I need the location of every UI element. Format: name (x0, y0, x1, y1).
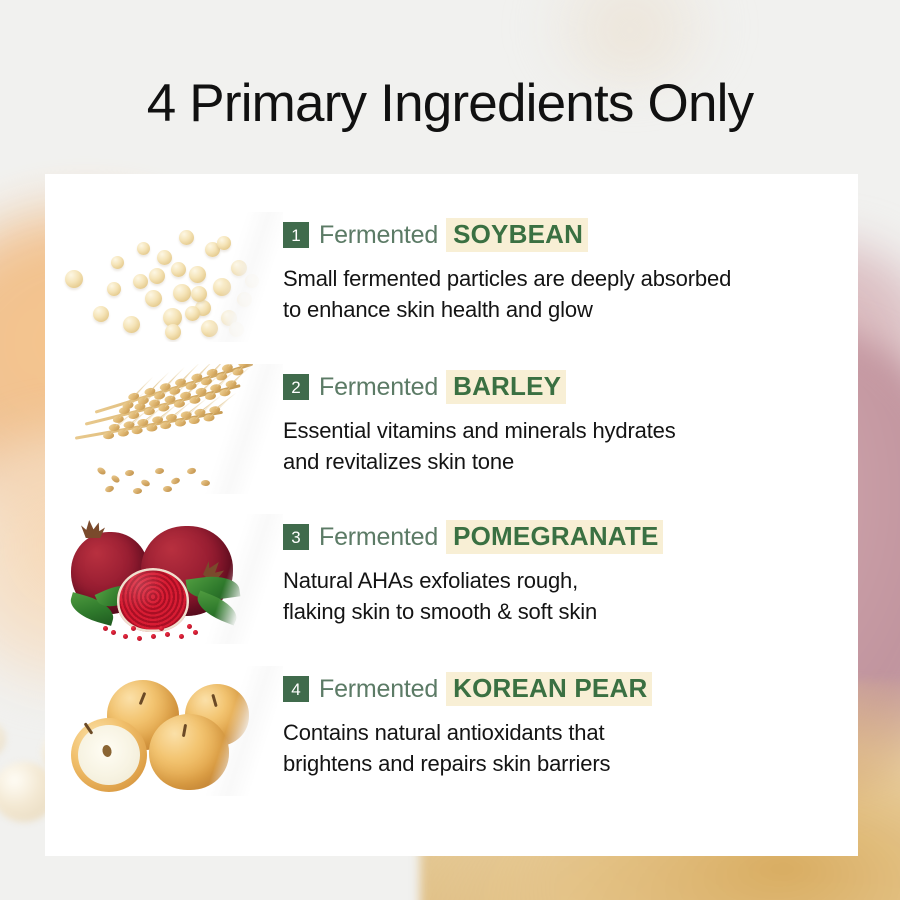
description-line-1: Natural AHAs exfoliates rough, (283, 565, 858, 596)
ingredient-prefix: Fermented (319, 373, 438, 402)
ingredient-copy: 4 Fermented KOREAN PEAR Contains natural… (283, 666, 858, 779)
ingredient-heading: 3 Fermented POMEGRANATE (283, 520, 858, 554)
ingredient-name: BARLEY (446, 370, 566, 404)
description-line-1: Small fermented particles are deeply abs… (283, 263, 858, 294)
ingredient-row-barley: 2 Fermented BARLEY Essential vitamins an… (45, 364, 858, 494)
ingredient-description: Essential vitamins and minerals hydrates… (283, 415, 858, 477)
ingredient-name: KOREAN PEAR (446, 672, 652, 706)
ingredient-heading: 2 Fermented BARLEY (283, 370, 858, 404)
ingredient-number-badge: 1 (283, 222, 309, 248)
ingredient-number-badge: 4 (283, 676, 309, 702)
ingredient-prefix: Fermented (319, 523, 438, 552)
ingredient-name: SOYBEAN (446, 218, 588, 252)
ingredient-copy: 1 Fermented SOYBEAN Small fermented part… (283, 212, 858, 325)
description-line-2: flaking skin to smooth & soft skin (283, 596, 858, 627)
description-line-2: to enhance skin health and glow (283, 294, 858, 325)
soybean-photo (45, 212, 283, 342)
ingredient-copy: 3 Fermented POMEGRANATE Natural AHAs exf… (283, 514, 858, 627)
ingredient-description: Contains natural antioxidants that brigh… (283, 717, 858, 779)
ingredient-heading: 1 Fermented SOYBEAN (283, 218, 858, 252)
ingredients-infographic: 4 Primary Ingredients Only 1 Fermented S… (0, 0, 900, 900)
page-title: 4 Primary Ingredients Only (0, 74, 900, 134)
barley-photo (45, 364, 283, 494)
ingredient-row-korean-pear: 4 Fermented KOREAN PEAR Contains natural… (45, 666, 858, 796)
description-line-1: Contains natural antioxidants that (283, 717, 858, 748)
ingredient-description: Natural AHAs exfoliates rough, flaking s… (283, 565, 858, 627)
description-line-2: brightens and repairs skin barriers (283, 748, 858, 779)
ingredient-prefix: Fermented (319, 675, 438, 704)
ingredient-description: Small fermented particles are deeply abs… (283, 263, 858, 325)
ingredient-number-badge: 2 (283, 374, 309, 400)
ingredient-heading: 4 Fermented KOREAN PEAR (283, 672, 858, 706)
ingredient-number-badge: 3 (283, 524, 309, 550)
ingredients-card: 1 Fermented SOYBEAN Small fermented part… (45, 174, 858, 856)
ingredient-copy: 2 Fermented BARLEY Essential vitamins an… (283, 364, 858, 477)
ingredient-row-pomegranate: 3 Fermented POMEGRANATE Natural AHAs exf… (45, 514, 858, 644)
description-line-1: Essential vitamins and minerals hydrates (283, 415, 858, 446)
description-line-2: and revitalizes skin tone (283, 446, 858, 477)
ingredient-name: POMEGRANATE (446, 520, 663, 554)
ingredient-prefix: Fermented (319, 221, 438, 250)
ingredient-row-soybean: 1 Fermented SOYBEAN Small fermented part… (45, 212, 858, 342)
pomegranate-photo (45, 514, 283, 644)
korean-pear-photo (45, 666, 283, 796)
